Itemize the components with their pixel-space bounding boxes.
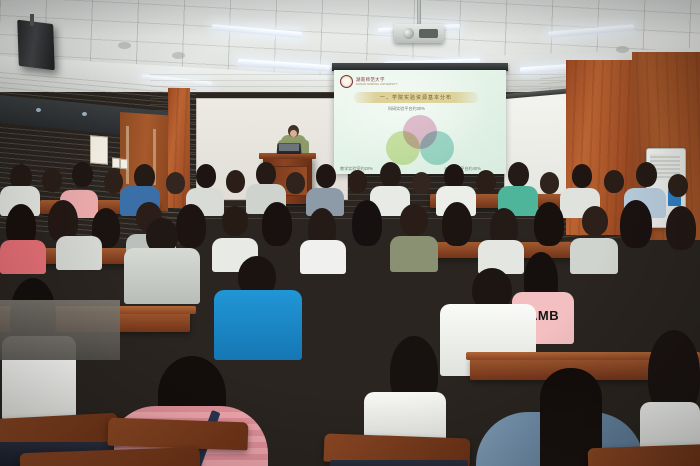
venn-label-top: 科研实验平台约30% xyxy=(388,106,425,112)
projector-lens xyxy=(403,28,414,39)
attendee-hair xyxy=(176,204,206,248)
attendee-head xyxy=(508,162,529,187)
attendee-head xyxy=(222,206,248,236)
slide-title-bar: 一、学院实验资源基本分布 xyxy=(354,92,478,103)
attendee-head xyxy=(582,206,608,236)
attendee-hair xyxy=(620,200,652,248)
ceiling-vent-2 xyxy=(172,52,185,59)
floor xyxy=(0,300,120,360)
attendee-torso xyxy=(570,238,618,274)
attendee-torso xyxy=(390,236,438,272)
attendee-head xyxy=(348,170,367,193)
blue-polo-attendee-torso xyxy=(214,290,302,360)
laptop-screen xyxy=(279,144,299,151)
attendee-head xyxy=(42,168,62,192)
lecture-hall-photo: 湖南师范大学 HUNAN NORMAL UNIVERSITY 一、学院实验资源基… xyxy=(0,0,700,466)
attendee-head xyxy=(316,164,336,188)
attendee-torso xyxy=(124,248,200,304)
projection-screen: 湖南师范大学 HUNAN NORMAL UNIVERSITY 一、学院实验资源基… xyxy=(334,70,506,174)
chair-foreground-center xyxy=(108,418,249,451)
attendee-head xyxy=(572,164,592,188)
attendee-hair xyxy=(352,200,382,246)
attendee-head xyxy=(400,204,428,236)
attendee-torso xyxy=(56,236,102,270)
venn-diagram xyxy=(384,115,456,161)
chair-seat-right xyxy=(330,460,468,466)
attendee-head xyxy=(72,162,93,187)
attendee-head xyxy=(604,170,624,193)
ceiling-vent-1 xyxy=(118,42,131,49)
track-fitting-2 xyxy=(82,112,87,116)
slide-title-text: 一、学院实验资源基本分布 xyxy=(380,94,452,101)
attendee-torso xyxy=(0,240,46,274)
attendee-hair xyxy=(666,206,696,250)
speaker-bracket xyxy=(30,14,34,26)
ceiling-vent-4 xyxy=(616,46,629,53)
slide-university-logo: 湖南师范大学 HUNAN NORMAL UNIVERSITY xyxy=(340,75,398,88)
attendee-hair xyxy=(262,202,292,246)
projector-mount-pole xyxy=(417,0,421,26)
attendee-head xyxy=(668,174,688,197)
presenter-face xyxy=(290,130,297,137)
attendee-head xyxy=(476,170,496,193)
attendee-head xyxy=(226,170,245,193)
attendee-head xyxy=(286,172,305,194)
attendee-head xyxy=(412,172,431,194)
chair-foreground-far-right xyxy=(588,444,700,466)
attendee-head xyxy=(104,170,123,193)
university-seal-icon xyxy=(340,75,353,88)
university-name-en: HUNAN NORMAL UNIVERSITY xyxy=(356,83,398,86)
attendee-head xyxy=(444,164,464,188)
attendee-hair xyxy=(534,202,564,246)
attendee-head xyxy=(636,162,657,187)
attendee-head xyxy=(380,162,401,187)
wall-speaker-icon xyxy=(17,20,55,71)
attendee-head xyxy=(166,172,185,194)
attendee-head xyxy=(256,162,276,186)
track-fitting-1 xyxy=(36,108,41,112)
attendee-head xyxy=(196,164,216,188)
attendee-torso xyxy=(300,240,346,274)
attendee-head xyxy=(540,172,559,194)
attendee-hair xyxy=(442,202,472,246)
projector-vent xyxy=(419,29,438,38)
